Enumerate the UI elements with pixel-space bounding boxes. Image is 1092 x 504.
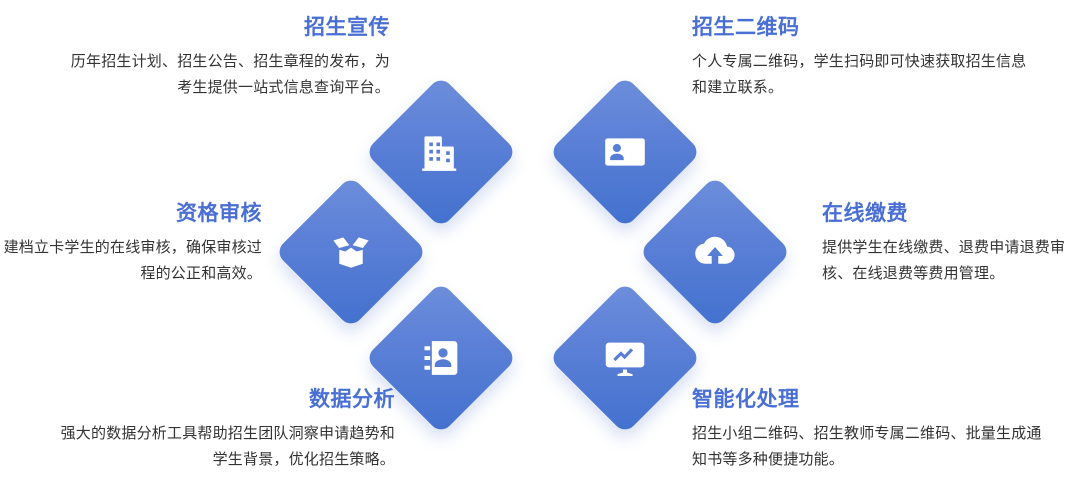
feature-title-promotion: 招生宣传 xyxy=(60,14,390,42)
feature-text-data-analysis: 数据分析 强大的数据分析工具帮助招生团队洞察申请趋势和学生背景，优化招生策略。 xyxy=(50,386,395,473)
feature-desc-qr-code: 个人专属二维码，学生扫码即可快速获取招生信息和建立联系。 xyxy=(692,49,1032,101)
feature-title-smart-processing: 智能化处理 xyxy=(692,386,1042,414)
address-book-icon xyxy=(387,304,495,412)
id-card-icon xyxy=(571,98,679,206)
monitor-chart-icon xyxy=(571,304,679,412)
feature-diagram: 招生宣传 历年招生计划、招生公告、招生章程的发布，为考生提供一站式信息查询平台。… xyxy=(0,0,1092,504)
feature-desc-qualification-review: 建档立卡学生的在线审核，确保审核过程的公正和高效。 xyxy=(0,235,262,287)
cloud-upload-icon xyxy=(661,198,769,306)
feature-desc-smart-processing: 招生小组二维码、招生教师专属二维码、批量生成通知书等多种便捷功能。 xyxy=(692,421,1042,473)
feature-text-qr-code: 招生二维码 个人专属二维码，学生扫码即可快速获取招生信息和建立联系。 xyxy=(692,14,1032,101)
feature-text-qualification-review: 资格审核 建档立卡学生的在线审核，确保审核过程的公正和高效。 xyxy=(0,200,262,287)
feature-title-qualification-review: 资格审核 xyxy=(0,200,262,228)
feature-desc-online-payment: 提供学生在线缴费、退费申请退费审核、在线退费等费用管理。 xyxy=(822,235,1092,287)
feature-tile-smart-processing[interactable] xyxy=(549,282,702,435)
feature-title-qr-code: 招生二维码 xyxy=(692,14,1032,42)
feature-desc-data-analysis: 强大的数据分析工具帮助招生团队洞察申请趋势和学生背景，优化招生策略。 xyxy=(50,421,395,473)
feature-text-smart-processing: 智能化处理 招生小组二维码、招生教师专属二维码、批量生成通知书等多种便捷功能。 xyxy=(692,386,1042,473)
feature-tile-data-analysis[interactable] xyxy=(365,282,518,435)
feature-title-data-analysis: 数据分析 xyxy=(50,386,395,414)
feature-desc-promotion: 历年招生计划、招生公告、招生章程的发布，为考生提供一站式信息查询平台。 xyxy=(60,49,390,101)
building-icon xyxy=(387,98,495,206)
open-box-icon xyxy=(297,198,405,306)
feature-text-online-payment: 在线缴费 提供学生在线缴费、退费申请退费审核、在线退费等费用管理。 xyxy=(822,200,1092,287)
feature-title-online-payment: 在线缴费 xyxy=(822,200,1092,228)
feature-text-promotion: 招生宣传 历年招生计划、招生公告、招生章程的发布，为考生提供一站式信息查询平台。 xyxy=(60,14,390,101)
